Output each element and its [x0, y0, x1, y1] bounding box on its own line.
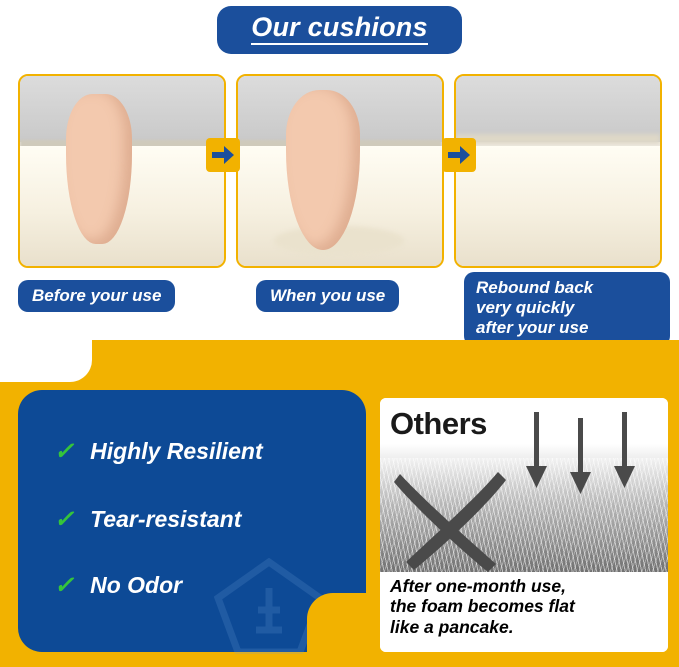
- page-title: Our cushions: [217, 6, 461, 54]
- foam-block: [456, 146, 660, 266]
- title-bar: Our cushions: [0, 6, 679, 54]
- features-panel: ✓ Highly Resilient ✓ Tear-resistant ✓ No…: [18, 390, 366, 652]
- feature-item-no-odor: ✓ No Odor: [54, 572, 182, 599]
- feature-item-tear-resistant: ✓ Tear-resistant: [54, 506, 241, 533]
- caption-rebound-line3: after your use: [476, 318, 660, 338]
- feature-item-highly-resilient: ✓ Highly Resilient: [54, 438, 263, 465]
- photo-row: [18, 74, 662, 264]
- foam-top-surface: [456, 76, 660, 142]
- feature-label: Highly Resilient: [90, 438, 263, 465]
- others-caption: After one-month use, the foam becomes fl…: [380, 572, 668, 652]
- cross-x-icon: [392, 468, 512, 572]
- check-icon: ✓: [54, 440, 74, 464]
- white-notch: [0, 340, 92, 382]
- check-icon: ✓: [54, 508, 74, 532]
- feature-label: Tear-resistant: [90, 506, 241, 533]
- caption-rebound-line2: very quickly: [476, 298, 660, 318]
- others-caption-line1: After one-month use,: [390, 576, 660, 596]
- others-caption-line2: the foam becomes flat: [390, 596, 660, 616]
- feature-label: No Odor: [90, 572, 182, 599]
- arrow-right-icon: [206, 138, 240, 172]
- down-arrows-icon: [518, 412, 648, 496]
- page-title-text: Our cushions: [251, 13, 427, 45]
- others-caption-line3: like a pancake.: [390, 617, 660, 637]
- check-icon: ✓: [54, 574, 74, 598]
- photo-when-you-use: [236, 74, 444, 268]
- photo-rebound: [454, 74, 662, 268]
- caption-before-use: Before your use: [18, 280, 175, 312]
- caption-rebound-line1: Rebound back: [476, 278, 660, 298]
- caption-when-you-use: When you use: [256, 280, 399, 312]
- caption-rebound: Rebound back very quickly after your use: [464, 272, 670, 346]
- arrow-right-icon: [442, 138, 476, 172]
- others-panel: Others After one-month use, the foam bec…: [380, 398, 668, 652]
- foam-edge: [456, 134, 660, 144]
- photo-before-use: [18, 74, 226, 268]
- house-icon: [214, 558, 324, 654]
- others-title: Others: [390, 406, 487, 442]
